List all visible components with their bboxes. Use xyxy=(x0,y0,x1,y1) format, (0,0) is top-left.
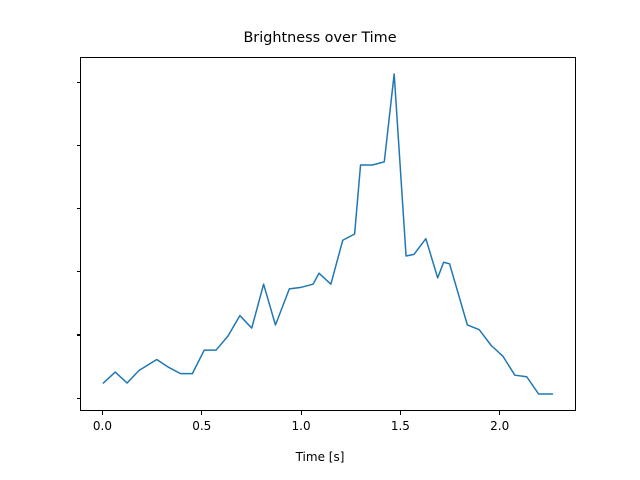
line-plot-svg xyxy=(81,58,575,410)
x-tick-mark xyxy=(499,411,500,415)
x-tick-label: 1.5 xyxy=(391,419,410,433)
x-axis-label: Time [s] xyxy=(0,450,640,464)
x-tick-label: 0.0 xyxy=(93,419,112,433)
figure-canvas: Brightness over Time 02004006008001000 0… xyxy=(0,0,640,480)
x-tick-label: 2.0 xyxy=(490,419,509,433)
plot-axes xyxy=(80,57,576,411)
x-tick-label: 1.0 xyxy=(292,419,311,433)
x-tick-label: 0.5 xyxy=(192,419,211,433)
brightness-line-series xyxy=(103,74,552,394)
x-tick-mark xyxy=(301,411,302,415)
x-tick-mark xyxy=(201,411,202,415)
x-tick-mark xyxy=(102,411,103,415)
chart-title: Brightness over Time xyxy=(0,30,640,46)
x-tick-mark xyxy=(400,411,401,415)
